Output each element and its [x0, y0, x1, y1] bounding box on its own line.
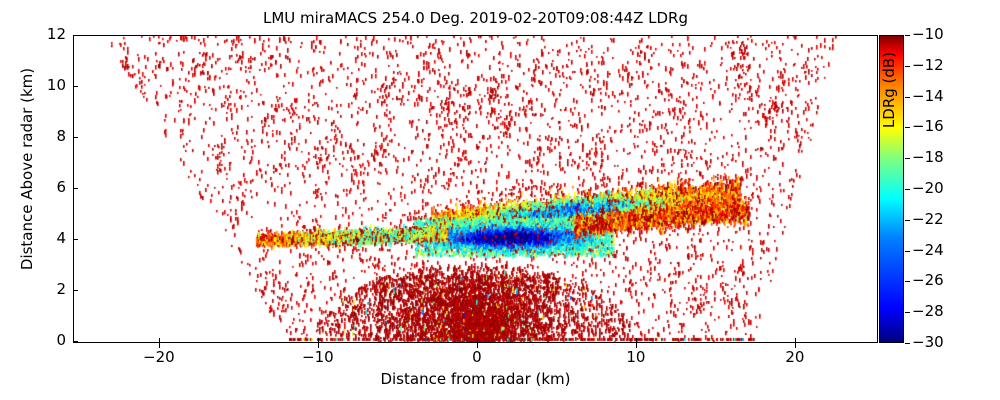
x-tick-label: 0	[447, 348, 507, 366]
y-tick-mark	[73, 35, 78, 36]
y-tick-mark	[73, 188, 78, 189]
colorbar-tick-label: −26	[912, 271, 944, 289]
y-tick-mark	[73, 86, 78, 87]
colorbar-tick-mark	[905, 281, 910, 282]
plot-axes[interactable]	[73, 35, 878, 343]
x-tick-mark	[159, 338, 160, 342]
colorbar-tick-label: −10	[912, 25, 944, 43]
x-axis-label: Distance from radar (km)	[73, 370, 878, 388]
x-tick-label: 10	[606, 348, 666, 366]
colorbar-label: LDRg (dB)	[880, 0, 898, 190]
x-tick-mark	[477, 338, 478, 342]
colorbar-tick-label: −12	[912, 56, 944, 74]
colorbar-tick-label: −14	[912, 87, 944, 105]
y-tick-mark	[73, 290, 78, 291]
plot-title: LMU miraMACS 254.0 Deg. 2019-02-20T09:08…	[73, 8, 878, 28]
scatter-data-layer	[74, 36, 877, 342]
colorbar-tick-label: −30	[912, 333, 944, 351]
y-tick-mark	[73, 239, 78, 240]
colorbar-tick-label: −22	[912, 210, 944, 228]
x-tick-mark	[795, 338, 796, 342]
colorbar-tick-label: −18	[912, 148, 944, 166]
colorbar-tick-label: −20	[912, 179, 944, 197]
y-tick-label: 0	[20, 331, 66, 349]
x-tick-mark	[636, 338, 637, 342]
colorbar-tick-mark	[905, 251, 910, 252]
x-tick-label: −20	[129, 348, 189, 366]
figure-canvas: LMU miraMACS 254.0 Deg. 2019-02-20T09:08…	[0, 0, 1000, 400]
colorbar-tick-label: −16	[912, 117, 944, 135]
colorbar-tick-mark	[905, 127, 910, 128]
colorbar-tick-label: −28	[912, 302, 944, 320]
colorbar-tick-mark	[905, 220, 910, 221]
colorbar-tick-mark	[905, 158, 910, 159]
x-tick-mark	[318, 338, 319, 342]
colorbar-tick-mark	[905, 343, 910, 344]
y-tick-mark	[73, 341, 78, 342]
colorbar-tick-label: −24	[912, 241, 944, 259]
colorbar-tick-mark	[905, 35, 910, 36]
y-tick-mark	[73, 137, 78, 138]
x-tick-label: −10	[288, 348, 348, 366]
x-tick-label: 20	[765, 348, 825, 366]
colorbar-tick-mark	[905, 97, 910, 98]
colorbar-tick-mark	[905, 66, 910, 67]
colorbar-tick-mark	[905, 189, 910, 190]
colorbar-tick-mark	[905, 312, 910, 313]
y-axis-label: Distance Above radar (km)	[18, 14, 36, 324]
